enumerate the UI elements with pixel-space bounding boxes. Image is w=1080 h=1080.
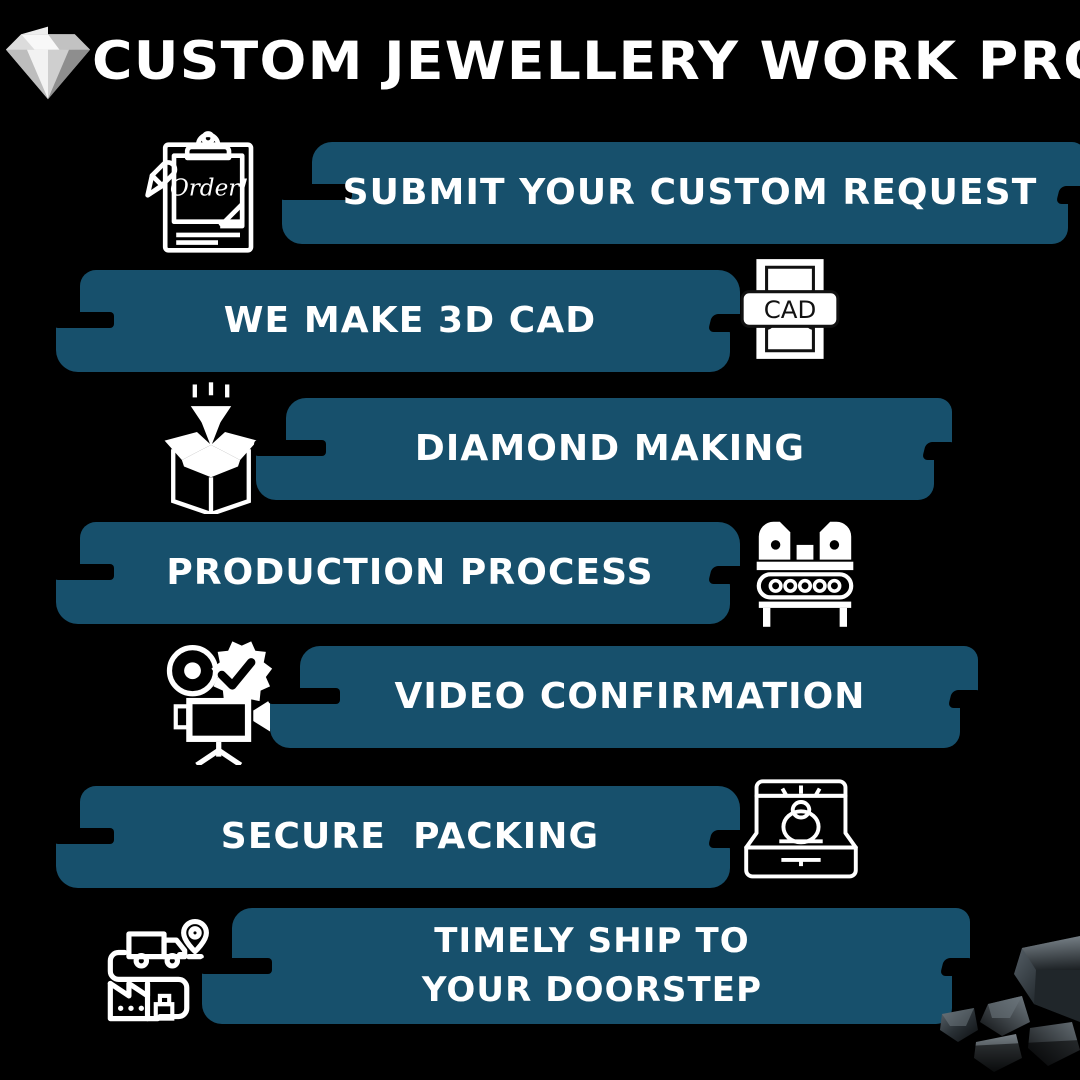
step-3-banner[interactable]: DIAMOND MAKING [286, 398, 934, 500]
process-step-6: SECURE PACKING [0, 772, 1080, 900]
step-6-banner[interactable]: SECURE PACKING [80, 786, 740, 888]
step-7-banner[interactable]: TIMELY SHIP TO YOUR DOORSTEP [232, 908, 952, 1024]
step-6-label: SECURE PACKING [80, 786, 740, 888]
step-7-label: TIMELY SHIP TO YOUR DOORSTEP [232, 908, 952, 1024]
page-title: CUSTOM JEWELLERY WORK PROCESS [92, 31, 1080, 92]
ring-box-icon [738, 772, 864, 892]
clipboard-order-icon: Order! [132, 124, 282, 260]
step-4-label: PRODUCTION PROCESS [80, 522, 740, 624]
step-2-label: WE MAKE 3D CAD [80, 270, 740, 372]
process-step-5: VIDEO CONFIRMATION [0, 632, 1080, 760]
cad-printer-icon: CAD [730, 250, 850, 368]
diamond-gem-icon [0, 19, 96, 105]
cad-printer-text: CAD [764, 295, 817, 324]
step-5-banner[interactable]: VIDEO CONFIRMATION [300, 646, 960, 748]
process-step-2: WE MAKE 3D CAD CAD [0, 256, 1080, 384]
clipboard-order-text: Order! [170, 175, 249, 201]
step-1-banner[interactable]: SUBMIT YOUR CUSTOM REQUEST [312, 142, 1068, 244]
conveyor-machine-icon [740, 508, 870, 628]
step-4-banner[interactable]: PRODUCTION PROCESS [80, 522, 740, 624]
step-3-label: DIAMOND MAKING [286, 398, 934, 500]
process-step-4: PRODUCTION PROCESS [0, 508, 1080, 636]
page-header: CUSTOM JEWELLERY WORK PROCESS [0, 0, 1080, 120]
step-1-label: SUBMIT YOUR CUSTOM REQUEST [312, 142, 1068, 244]
step-2-banner[interactable]: WE MAKE 3D CAD [80, 270, 740, 372]
process-step-1: Order! SUBMIT YOUR CUSTOM REQUEST [0, 128, 1080, 256]
step-5-label: VIDEO CONFIRMATION [300, 646, 960, 748]
process-step-7: TIMELY SHIP TO YOUR DOORSTEP [0, 900, 1080, 1028]
process-step-3: DIAMOND MAKING [0, 384, 1080, 512]
